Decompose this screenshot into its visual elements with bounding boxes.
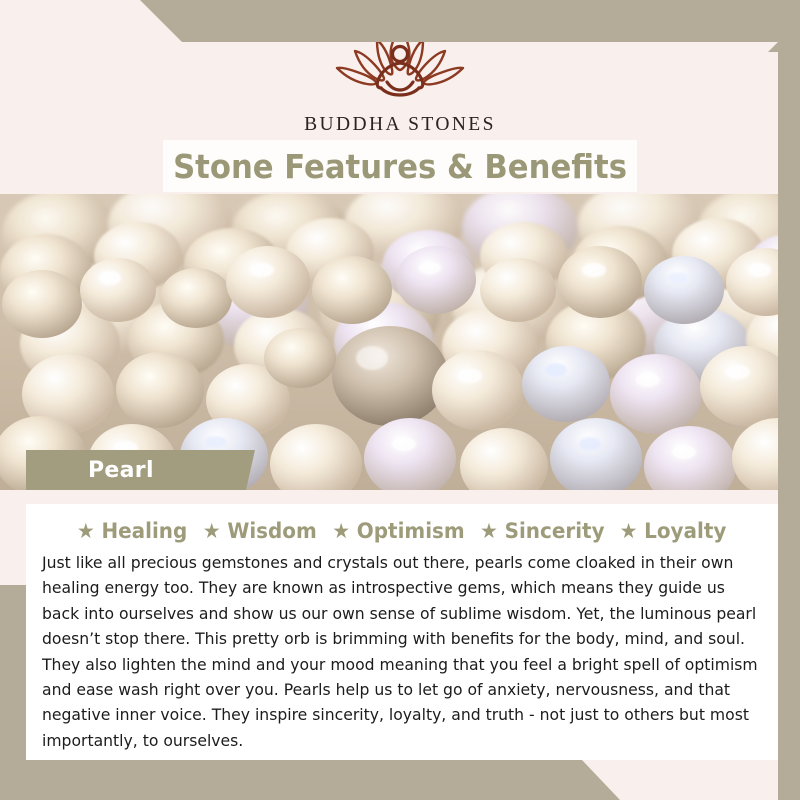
poster-root: BUDDHA STONES Stone Features & Benefits …: [0, 0, 800, 800]
keyword-label: Loyalty: [644, 519, 726, 543]
stone-name-bar: Pearl: [26, 450, 246, 490]
keyword-sincerity: ★ Sincerity: [472, 519, 605, 543]
keyword-label: Optimism: [356, 519, 464, 543]
keyword-wisdom: ★ Wisdom: [194, 519, 317, 543]
frame-right: [778, 0, 800, 800]
keyword-label: Healing: [102, 519, 188, 543]
keyword-label: Wisdom: [227, 519, 316, 543]
brand-name: BUDDHA STONES: [0, 114, 800, 136]
page-title: Stone Features & Benefits: [173, 147, 627, 186]
title-band: Stone Features & Benefits: [163, 140, 637, 192]
star-icon: ★: [480, 521, 498, 542]
keyword-healing: ★ Healing: [77, 519, 187, 543]
description-text: Just like all precious gemstones and cry…: [42, 550, 760, 753]
pearl-photo: [0, 194, 800, 490]
star-icon: ★: [77, 521, 95, 542]
pearl-photo-image: [0, 194, 800, 490]
keyword-optimism: ★ Optimism: [323, 519, 464, 543]
keyword-label: Sincerity: [505, 519, 605, 543]
star-icon: ★: [202, 521, 220, 542]
star-icon: ★: [332, 521, 350, 542]
frame-bottom: [0, 760, 800, 800]
keyword-loyalty: ★ Loyalty: [611, 519, 726, 543]
keyword-list: ★ Healing ★ Wisdom ★ Optimism ★ Sincerit…: [26, 504, 778, 548]
stone-name: Pearl: [88, 458, 154, 483]
pink-divider: [0, 490, 800, 504]
content-panel: ★ Healing ★ Wisdom ★ Optimism ★ Sincerit…: [26, 504, 778, 760]
star-icon: ★: [620, 521, 638, 542]
